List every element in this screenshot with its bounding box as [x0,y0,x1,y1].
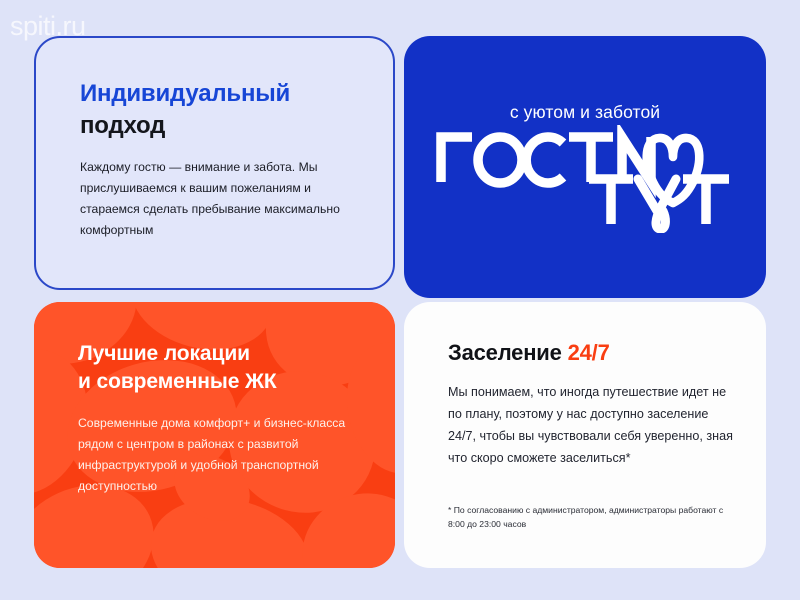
card-checkin-24-7: Заселение 24/7 Мы понимаем, что иногда п… [404,302,766,568]
brand-tagline: с уютом и заботой [510,102,660,123]
card-checkin-heading: Заселение 24/7 [448,340,736,366]
card-checkin-content: Заселение 24/7 Мы понимаем, что иногда п… [404,302,766,532]
card-individual-approach: Индивидуальныйподход Каждому гостю — вни… [34,36,395,290]
brand-logo [435,125,735,233]
card-approach-heading-accent: Индивидуальный [80,78,359,110]
card-locations-heading-line2: и современные ЖК [78,370,277,393]
brand-logo-mark [435,125,735,233]
card-checkin-fineprint: * По согласованию с администратором, адм… [448,504,736,532]
card-approach-heading: Индивидуальныйподход [80,78,359,141]
card-locations-body: Современные дома комфорт+ и бизнес-класс… [78,413,369,498]
card-locations-heading: Лучшие локации и современные ЖК [78,340,369,397]
card-approach-body: Каждому гостю — внимание и забота. Мы пр… [80,157,359,241]
card-checkin-heading-accent: 24/7 [568,340,610,365]
card-locations-content: Лучшие локации и современные ЖК Современ… [34,302,395,498]
card-locations-heading-line1: Лучшие локации [78,342,250,365]
card-checkin-heading-rest: Заселение [448,340,562,365]
card-brand-logo: с уютом и заботой [404,36,766,298]
card-approach-content: Индивидуальныйподход Каждому гостю — вни… [36,38,393,241]
cards-board: Индивидуальныйподход Каждому гостю — вни… [0,0,800,600]
card-approach-heading-rest: подход [80,112,165,139]
card-checkin-body: Мы понимаем, что иногда путешествие идет… [448,382,736,470]
card-best-locations: Лучшие локации и современные ЖК Современ… [34,302,395,568]
